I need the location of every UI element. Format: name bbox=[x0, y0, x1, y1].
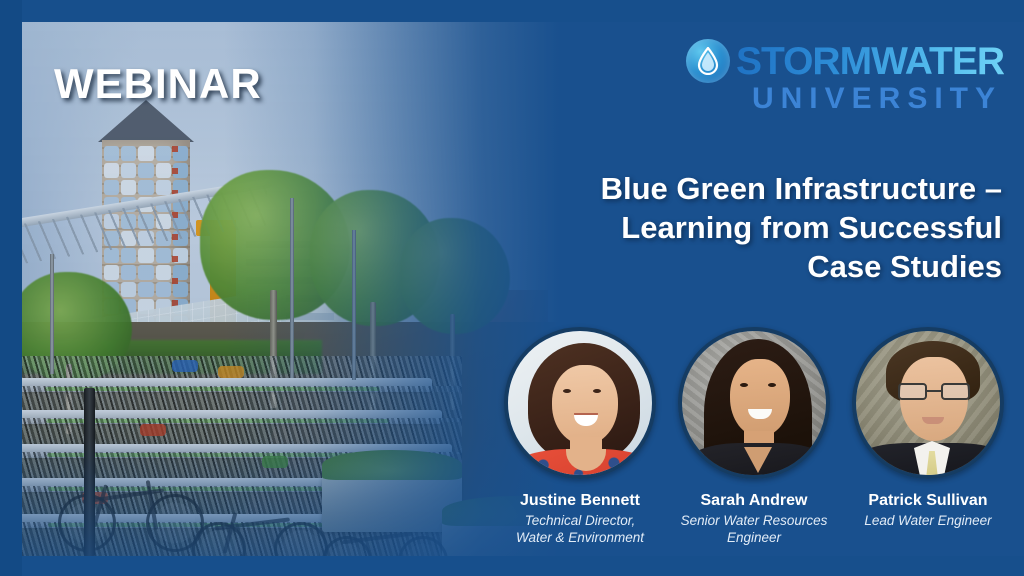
speaker-role: Senior Water Resources Engineer bbox=[681, 513, 828, 547]
speaker-role-line: Lead Water Engineer bbox=[864, 513, 991, 530]
logo-subwordmark: UNIVERSITY bbox=[752, 84, 1002, 114]
frame-left-edge bbox=[0, 0, 22, 576]
speaker-role: Lead Water Engineer bbox=[864, 513, 991, 530]
title-line-1: Blue Green Infrastructure – bbox=[427, 170, 1002, 209]
speaker-role-line: Senior Water Resources bbox=[681, 513, 828, 530]
portrait-sarah-andrew bbox=[682, 331, 826, 475]
title-line-3: Case Studies bbox=[427, 248, 1002, 287]
portrait-patrick-sullivan bbox=[856, 331, 1000, 475]
speaker-list: Justine Bennett Technical Director, Wate… bbox=[490, 327, 1024, 556]
webinar-slide: WEBINAR STORMWATER UNIVERSITY Blue Green… bbox=[0, 0, 1024, 576]
speaker-card-2: Sarah Andrew Senior Water Resources Engi… bbox=[674, 327, 834, 556]
portrait-justine-bennett bbox=[508, 331, 652, 475]
webinar-eyebrow-label: WEBINAR bbox=[54, 60, 262, 108]
avatar bbox=[504, 327, 656, 479]
slide-panel: WEBINAR STORMWATER UNIVERSITY Blue Green… bbox=[22, 22, 1024, 556]
speaker-role-line: Water & Environment bbox=[516, 530, 644, 547]
speaker-card-3: Patrick Sullivan Lead Water Engineer bbox=[848, 327, 1008, 556]
speaker-role-line: Engineer bbox=[681, 530, 828, 547]
speaker-name: Sarah Andrew bbox=[701, 491, 808, 510]
speaker-role: Technical Director, Water & Environment bbox=[516, 513, 644, 547]
avatar bbox=[852, 327, 1004, 479]
speaker-role-line: Technical Director, bbox=[516, 513, 644, 530]
title-line-2: Learning from Successful bbox=[427, 209, 1002, 248]
water-drop-icon bbox=[686, 39, 730, 83]
logo-primary-row: STORMWATER bbox=[686, 39, 1004, 83]
stormwater-university-logo[interactable]: STORMWATER UNIVERSITY bbox=[694, 39, 1004, 114]
speaker-card-1: Justine Bennett Technical Director, Wate… bbox=[500, 327, 660, 556]
page-title: Blue Green Infrastructure – Learning fro… bbox=[427, 170, 1002, 286]
speaker-name: Patrick Sullivan bbox=[868, 491, 987, 510]
speaker-name: Justine Bennett bbox=[520, 491, 640, 510]
logo-wordmark: STORMWATER bbox=[736, 42, 1004, 81]
avatar bbox=[678, 327, 830, 479]
